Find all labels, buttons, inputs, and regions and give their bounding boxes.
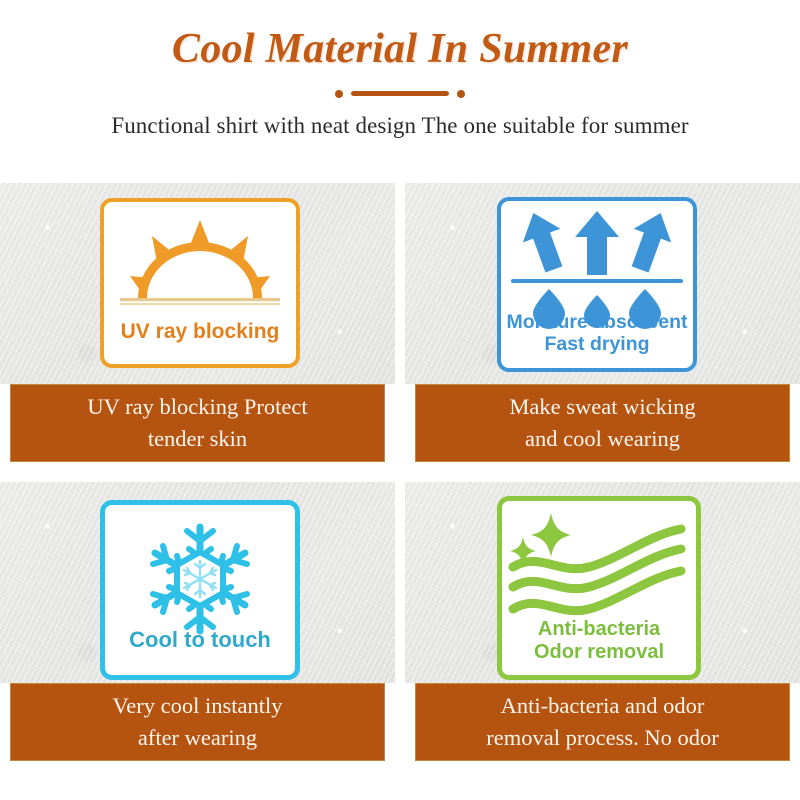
header: Cool Material In Summer Functional shirt… (0, 0, 800, 141)
caption-line-2: tender skin (148, 423, 247, 455)
divider-dot-right (457, 90, 465, 98)
badge-label-moisture-line-1: Moisture absorbent (507, 311, 688, 333)
caption-line-1: Very cool instantly (113, 690, 283, 722)
caption-moisture: Make sweat wicking and cool wearing (415, 384, 790, 462)
caption-line-1: Anti-bacteria and odor (501, 690, 705, 722)
feature-photo-antibacteria: Anti-bacteria Odor removal (405, 482, 800, 683)
page-title: Cool Material In Summer (0, 26, 800, 73)
badge-label-antibacteria-line-1: Anti-bacteria (538, 618, 660, 640)
feature-card-moisture: Moisture absorbent Fast drying Make swea… (405, 183, 800, 473)
badge-uv: UV ray blocking (100, 198, 300, 368)
feature-grid: UV ray blocking UV ray blocking Protect … (0, 183, 800, 800)
badge-moisture: Moisture absorbent Fast drying (497, 197, 697, 372)
caption-cool: Very cool instantly after wearing (10, 683, 385, 761)
caption-line-2: and cool wearing (525, 423, 680, 455)
feature-card-cool: Cool to touch Very cool instantly after … (0, 482, 395, 772)
badge-cool: Cool to touch (100, 500, 300, 680)
snowflake-icon (140, 519, 260, 639)
badge-label-uv: UV ray blocking (104, 320, 296, 344)
divider-bar (351, 91, 449, 96)
badge-label-cool: Cool to touch (105, 628, 295, 653)
feature-photo-cool: Cool to touch (0, 482, 395, 683)
caption-antibacteria: Anti-bacteria and odor removal process. … (415, 683, 790, 761)
badge-label-antibacteria: Anti-bacteria Odor removal (502, 618, 696, 663)
caption-uv: UV ray blocking Protect tender skin (10, 384, 385, 462)
feature-photo-moisture: Moisture absorbent Fast drying (405, 183, 800, 384)
badge-label-moisture: Moisture absorbent Fast drying (501, 312, 693, 356)
divider-dot-left (335, 90, 343, 98)
divider-ornament (335, 87, 465, 99)
caption-line-1: UV ray blocking Protect (87, 391, 307, 423)
arrows-up-water-drops-icon (509, 209, 685, 321)
caption-line-2: removal process. No odor (486, 722, 718, 754)
subtitle-wrap: Functional shirt with neat design The on… (0, 99, 800, 141)
badge-label-antibacteria-line-2: Odor removal (534, 641, 664, 663)
caption-line-1: Make sweat wicking (509, 391, 695, 423)
sun-horizon-icon (114, 216, 286, 316)
feature-card-antibacteria: Anti-bacteria Odor removal Anti-bacteria… (405, 482, 800, 772)
badge-antibacteria: Anti-bacteria Odor removal (497, 496, 701, 680)
sparkle-waves-icon (509, 509, 689, 619)
badge-label-moisture-line-2: Fast drying (544, 333, 649, 355)
feature-photo-uv: UV ray blocking (0, 183, 395, 384)
caption-line-2: after wearing (138, 722, 257, 754)
page-subtitle: Functional shirt with neat design The on… (107, 113, 692, 141)
feature-card-uv: UV ray blocking UV ray blocking Protect … (0, 183, 395, 473)
